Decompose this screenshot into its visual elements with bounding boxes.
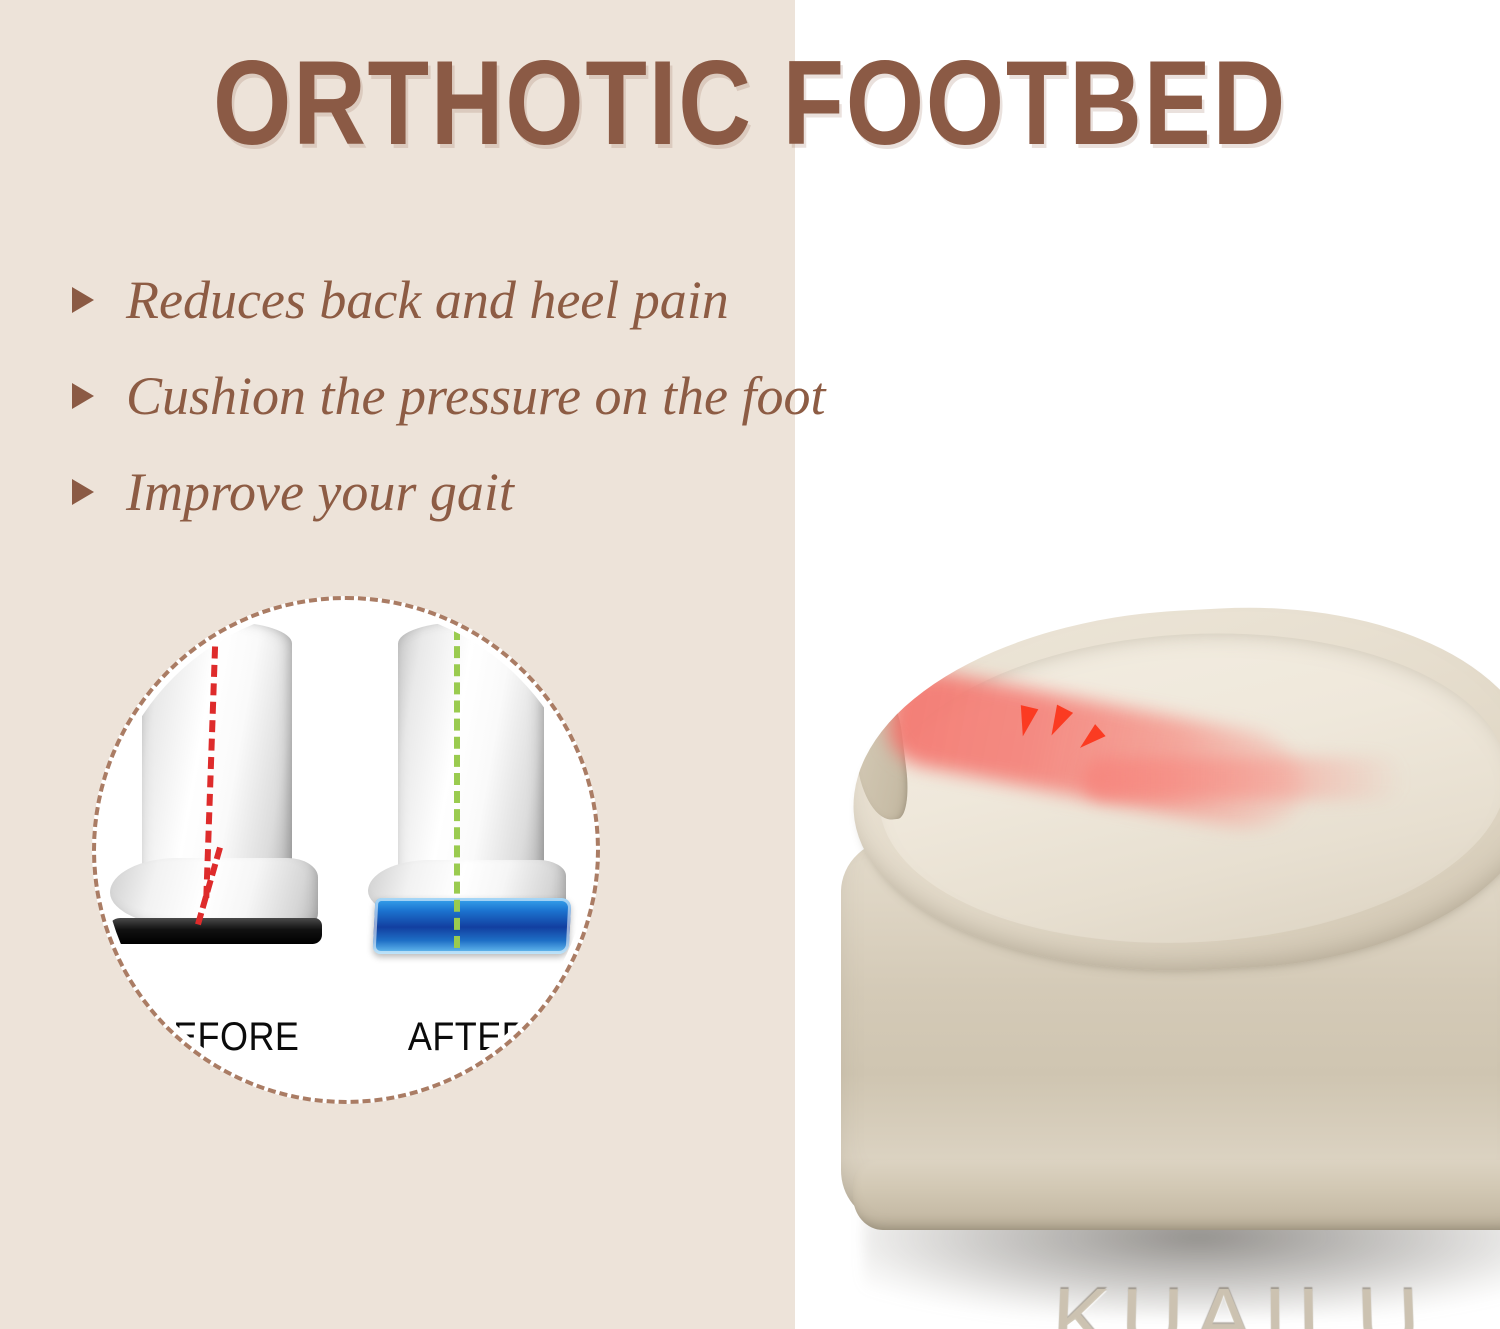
before-panel: BEFORE [102,606,346,1094]
triangle-right-icon [66,472,100,512]
product-feature-image: ORTHOTIC FOOTBED Reduces back and heel p… [0,0,1500,1329]
benefit-label: Improve your gait [126,462,514,522]
sandal-slide: KUAILU [823,570,1500,1270]
product-photo: KUAILU [795,520,1500,1329]
blue-gel-insole [373,898,572,954]
after-label: AFTER [358,1015,578,1060]
triangle-right-icon [66,376,100,416]
arch-support-highlight [1082,758,1402,800]
after-panel: AFTER [346,606,590,1094]
outsole-rim [853,1160,1500,1230]
leg-silhouette-after [398,622,544,894]
before-after-diagram: BEFORE AFTER [92,596,600,1104]
page-title: ORTHOTIC FOOTBED [120,44,1380,162]
flat-sole-before [108,918,322,944]
alignment-line-icon [454,628,460,948]
list-item: Reduces back and heel pain [66,252,1186,348]
triangle-right-icon [66,280,100,320]
benefit-label: Cushion the pressure on the foot [126,366,825,426]
list-item: Cushion the pressure on the foot [66,348,1186,444]
before-label: BEFORE [114,1015,334,1060]
benefits-list: Reduces back and heel pain Cushion the p… [66,252,1186,540]
benefit-label: Reduces back and heel pain [126,270,729,330]
diagram-canvas: BEFORE AFTER [102,606,590,1094]
brand-logo-embossed: KUAILU [952,1271,1500,1329]
